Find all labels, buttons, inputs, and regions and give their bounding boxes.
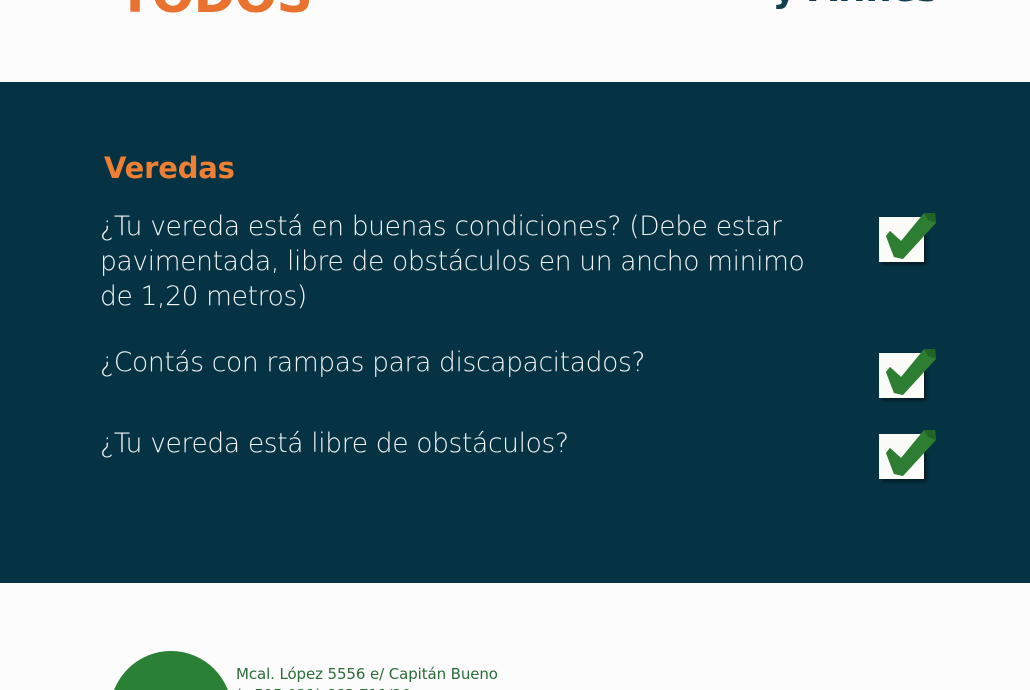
checkbox-answer[interactable] (879, 428, 939, 480)
question-row: ¿Contás con rampas para discapacitados? (0, 346, 1030, 409)
check-mark-icon (881, 428, 941, 480)
question-row: ¿Tu vereda está libre de obstáculos? (0, 427, 1030, 490)
header-title-left: TODOS (118, 0, 312, 20)
header-title-right: y Afines (773, 0, 938, 7)
slide-root: TODOS y Afines Veredas ¿Tu vereda está e… (0, 0, 1030, 690)
question-text: ¿Tu vereda está en buenas condiciones? (… (100, 210, 840, 315)
check-mark-icon (881, 347, 941, 399)
footer-address-line-1: Mcal. López 5556 e/ Capitán Bueno (236, 664, 498, 685)
check-mark-icon (881, 211, 941, 263)
section-heading-veredas: Veredas (104, 154, 235, 183)
footer-address: Mcal. López 5556 e/ Capitán Bueno (+595 … (236, 664, 498, 690)
checkbox-answer[interactable] (879, 211, 939, 263)
question-text: ¿Tu vereda está libre de obstáculos? (100, 427, 840, 462)
content-panel: Veredas ¿Tu vereda está en buenas condic… (0, 82, 1030, 583)
footer-address-line-2: (+595 021) 663 711/20 (236, 685, 498, 690)
header-band: TODOS y Afines (0, 0, 1030, 82)
question-list: ¿Tu vereda está en buenas condiciones? (… (0, 210, 1030, 508)
checkbox-answer[interactable] (879, 347, 939, 399)
question-text: ¿Contás con rampas para discapacitados? (100, 346, 840, 381)
question-row: ¿Tu vereda está en buenas condiciones? (… (0, 210, 1030, 328)
